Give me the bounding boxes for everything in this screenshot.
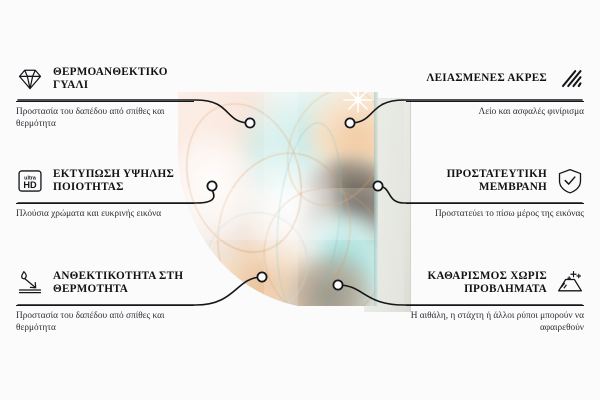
connector-dot-right-3 (333, 280, 342, 289)
connector-dot-right-1 (345, 118, 354, 127)
connector-dot-left-3 (257, 272, 266, 281)
feature-title: ΚΑΘΑΡΙΣΜΟΣ ΧΩΡΙΣ ΠΡΟΒΛΗΜΑΤΑ (406, 270, 547, 297)
heat-resistance-icon (16, 269, 44, 297)
feature-title: ΕΚΤΥΠΩΣΗ ΥΨΗΛΗΣ ΠΟΙΟΤΗΤΑΣ (53, 168, 194, 195)
feature-title: ΠΡΟΣΤΑΤΕΥΤΙΚΗ ΜΕΜΒΡΑΝΗ (406, 168, 547, 195)
ultra-hd-icon: ultra HD (16, 167, 44, 195)
feature-rule (406, 305, 584, 306)
feature-description: Η αιθάλη, η στάχτη ή άλλοι ρύποι μπορούν… (406, 311, 584, 334)
diamond-icon (16, 65, 44, 93)
feature-high-quality-print: ultra HD ΕΚΤΥΠΩΣΗ ΥΨΗΛΗΣ ΠΟΙΟΤΗΤΑΣ Πλούσ… (16, 164, 194, 221)
feature-title: ΛΕΙΑΣΜΕΝΕΣ ΑΚΡΕΣ (426, 72, 547, 85)
feature-rule (406, 203, 584, 204)
sparkle-clean-icon (556, 269, 584, 297)
feature-heat-resistance: ΑΝΘΕΚΤΙΚΟΤΗΤΑ ΣΤΗ ΘΕΡΜΟΤΗΤΑ Προστασία το… (16, 266, 194, 334)
feature-description: Προστατεύει το πίσω μέρος της εικόνας (406, 209, 584, 221)
feature-description: Λείο και ασφαλές φινίρισμα (406, 107, 584, 119)
feature-description: Προστασία του δαπέδου από σπίθες και θερ… (16, 107, 194, 130)
polished-edges-icon (556, 65, 584, 93)
feature-title: ΑΝΘΕΚΤΙΚΟΤΗΤΑ ΣΤΗ ΘΕΡΜΟΤΗΤΑ (53, 270, 194, 297)
feature-polished-edges: ΛΕΙΑΣΜΕΝΕΣ ΑΚΡΕΣ Λείο και ασφαλές φινίρι… (406, 62, 584, 119)
feature-rule (16, 101, 194, 102)
feature-heat-resistant-glass: ΘΕΡΜΟΑΝΘΕΚΤΙΚΟ ΓΥΑΛΙ Προστασία του δαπέδ… (16, 62, 194, 130)
svg-text:HD: HD (23, 180, 37, 190)
connector-dot-right-2 (373, 181, 382, 190)
infographic-canvas: ΘΕΡΜΟΑΝΘΕΚΤΙΚΟ ΓΥΑΛΙ Προστασία του δαπέδ… (0, 0, 600, 400)
shield-check-icon (556, 167, 584, 195)
feature-title: ΘΕΡΜΟΑΝΘΕΚΤΙΚΟ ΓΥΑΛΙ (53, 66, 194, 93)
connector-dot-left-2 (207, 181, 216, 190)
feature-protective-membrane: ΠΡΟΣΤΑΤΕΥΤΙΚΗ ΜΕΜΒΡΑΝΗ Προστατεύει το πί… (406, 164, 584, 221)
feature-rule (406, 101, 584, 102)
feature-easy-cleaning: ΚΑΘΑΡΙΣΜΟΣ ΧΩΡΙΣ ΠΡΟΒΛΗΜΑΤΑ Η αιθάλη, η … (406, 266, 584, 334)
feature-rule (16, 203, 194, 204)
feature-description: Πλούσια χρώματα και ευκρινής εικόνα (16, 209, 194, 221)
feature-description: Προστασία του δαπέδου από σπίθες και θερ… (16, 311, 194, 334)
connector-dot-left-1 (245, 118, 254, 127)
feature-rule (16, 305, 194, 306)
